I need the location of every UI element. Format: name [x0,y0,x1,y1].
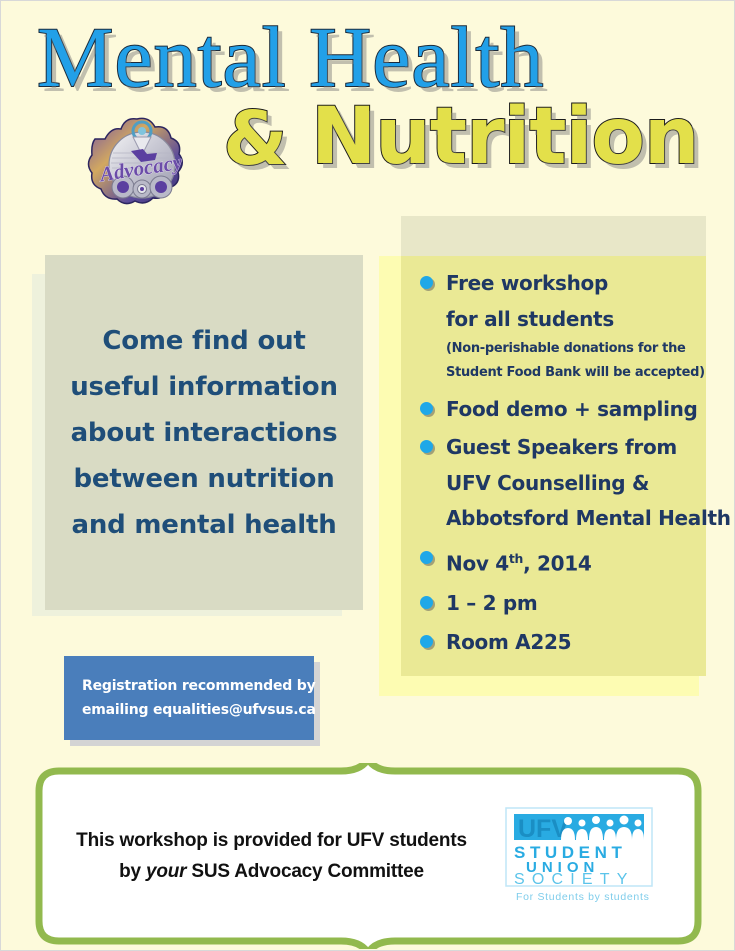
left-text-line-4: between nutrition [73,456,334,502]
registration-line-1: Registration recommended by [82,674,314,698]
bullet-text-date: Nov 4th, 2014 [446,542,706,581]
bullet-text: Guest Speakers from [446,431,706,464]
left-panel-text: Come find out useful information about i… [45,255,363,610]
callout-line-2: by your SUS Advocacy Committee [45,856,498,887]
list-item: Room A225 [406,626,706,659]
date-prefix: Nov 4 [446,552,509,576]
registration-line-2: emailing equalities@ufvsus.ca [82,698,314,722]
bullet-text-room: Room A225 [446,626,706,659]
list-item: Food demo + sampling [406,393,706,426]
sus-logo-tagline: For Students by students [516,891,650,903]
list-item: Guest Speakers from [406,431,706,464]
bullet-text-time: 1 – 2 pm [446,587,706,620]
left-text-line-1: Come find out [102,318,305,364]
bullet-dot-icon [420,635,433,648]
poster-canvas: Mental Health & Nutrition [0,0,735,951]
bullet-dot-icon [420,402,433,415]
title-line-mental-health: Mental Health [37,9,544,105]
title-ampersand: & [223,99,288,179]
callout-line-1: This workshop is provided for UFV studen… [45,825,498,856]
advocacy-logo: Advocacy [83,109,201,209]
title-line-nutrition: Nutrition [311,93,698,181]
list-item: 1 – 2 pm [406,587,706,620]
callout-line-2-suffix: SUS Advocacy Committee [186,861,424,882]
bullet-dot-icon [420,551,433,564]
date-ordinal-suffix: th [509,551,523,566]
left-text-line-3: about interactions [71,410,338,456]
bullet-continuation: UFV Counselling & [406,466,706,501]
bullet-note-line-2: Student Food Bank will be accepted) [406,361,706,385]
bullet-dot-icon [420,440,433,453]
details-bullet-list: Free workshop for all students (Non-peri… [406,267,706,661]
left-text-line-2: useful information [70,364,338,410]
callout-content: This workshop is provided for UFV studen… [31,763,706,949]
bullet-note-line-1: (Non-perishable donations for the [406,337,706,361]
footer-callout: This workshop is provided for UFV studen… [31,763,706,949]
callout-text-block: This workshop is provided for UFV studen… [45,825,504,887]
registration-box: Registration recommended by emailing equ… [64,656,314,740]
sus-logo: UFV STUDENT UNION SOCIETY For Students b… [504,806,654,906]
date-year: , 2014 [523,552,591,576]
bullet-text: Food demo + sampling [446,393,706,426]
left-text-line-5: and mental health [71,502,336,548]
bullet-continuation: Abbotsford Mental Health [406,501,706,536]
bullet-dot-icon [420,596,433,609]
callout-line-2-emphasis: your [146,861,186,882]
bullet-continuation: for all students [406,302,706,337]
bullet-text: Free workshop [446,267,706,300]
callout-line-2-prefix: by [119,861,146,882]
list-item: Nov 4th, 2014 [406,542,706,581]
sus-logo-word-society: SOCIETY [514,871,635,888]
sus-logo-ufv-text: UFV [518,815,568,843]
bullet-dot-icon [420,276,433,289]
list-item: Free workshop [406,267,706,300]
